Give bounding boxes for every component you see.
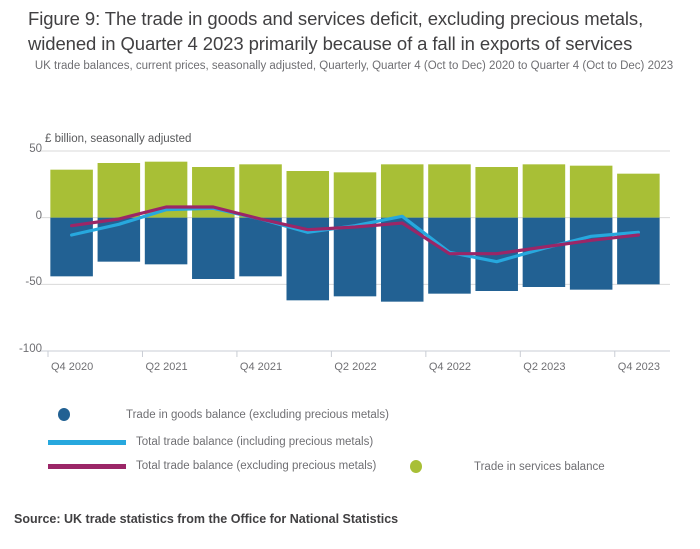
legend-label: Total trade balance (including precious … [136, 436, 373, 448]
legend-label: Trade in goods balance (excluding precio… [126, 409, 389, 421]
legend-item[interactable]: Total trade balance (excluding precious … [48, 460, 376, 472]
legend-dot-icon [410, 460, 422, 473]
x-tick-label: Q4 2023 [618, 361, 660, 373]
x-tick-label: Q4 2021 [240, 361, 282, 373]
bar-trade-in-goods-balance-excluding-precious-metals [192, 218, 235, 279]
legend-item[interactable]: Trade in services balance [410, 460, 605, 473]
bar-trade-in-goods-balance-excluding-precious-metals [381, 218, 424, 302]
bar-trade-in-services-balance [570, 166, 613, 218]
chart-plot-area: £ billion, seasonally adjusted 500-50-10… [0, 0, 700, 400]
y-tick-label: -100 [6, 343, 42, 355]
x-tick-label: Q2 2021 [145, 361, 187, 373]
legend-line-icon [48, 464, 126, 469]
legend-item[interactable]: Trade in goods balance (excluding precio… [58, 408, 389, 421]
bar-trade-in-services-balance [50, 170, 93, 218]
bar-trade-in-goods-balance-excluding-precious-metals [617, 218, 660, 285]
y-tick-label: 0 [6, 210, 42, 222]
bar-trade-in-services-balance [475, 167, 518, 218]
bar-trade-in-goods-balance-excluding-precious-metals [239, 218, 282, 277]
legend-item[interactable]: Total trade balance (including precious … [48, 436, 373, 448]
bar-trade-in-services-balance [381, 164, 424, 217]
x-tick-label: Q4 2022 [429, 361, 471, 373]
bar-trade-in-goods-balance-excluding-precious-metals [334, 218, 377, 297]
bar-trade-in-services-balance [617, 174, 660, 218]
legend-line-icon [48, 440, 126, 445]
x-tick-label: Q4 2020 [51, 361, 93, 373]
source-note: Source: UK trade statistics from the Off… [14, 512, 398, 526]
bar-trade-in-services-balance [428, 164, 471, 217]
bar-trade-in-services-balance [523, 164, 566, 217]
legend-dot-icon [58, 408, 70, 421]
x-tick-label: Q2 2023 [523, 361, 565, 373]
legend-label: Total trade balance (excluding precious … [136, 460, 376, 472]
y-tick-label: -50 [6, 276, 42, 288]
y-axis-tick-labels: 500-50-100 [0, 0, 42, 400]
bar-trade-in-services-balance [334, 172, 377, 217]
y-tick-label: 50 [6, 143, 42, 155]
bar-trade-in-services-balance [287, 171, 330, 218]
bar-trade-in-goods-balance-excluding-precious-metals [145, 218, 188, 265]
legend-label: Trade in services balance [474, 461, 605, 473]
chart-canvas [0, 0, 700, 400]
bar-trade-in-services-balance [98, 163, 141, 218]
chart-legend: Trade in goods balance (excluding precio… [0, 396, 700, 492]
bar-trade-in-goods-balance-excluding-precious-metals [570, 218, 613, 290]
y-axis-unit-label: £ billion, seasonally adjusted [45, 133, 191, 145]
bar-trade-in-services-balance [239, 164, 282, 217]
x-tick-label: Q2 2022 [334, 361, 376, 373]
